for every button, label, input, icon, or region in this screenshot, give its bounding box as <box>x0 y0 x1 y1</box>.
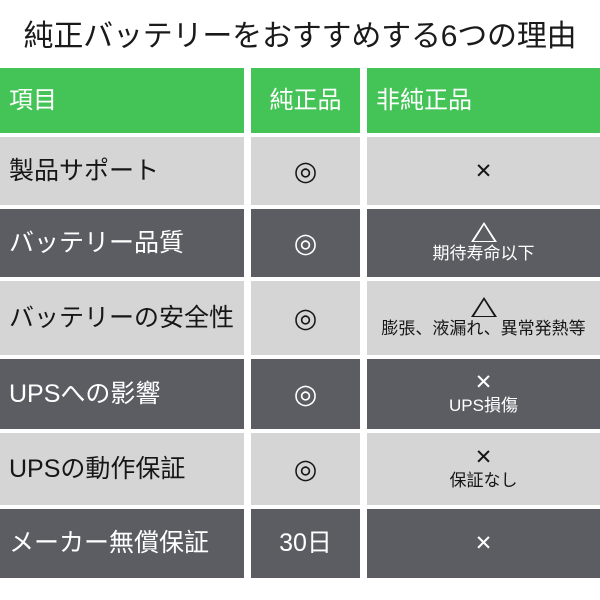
row-genuine-cell: ◎ <box>251 137 360 205</box>
row-item-label: UPSの動作保証 <box>9 456 185 482</box>
row-genuine-cell: ◎ <box>251 209 360 277</box>
row-nongenuine-subtext: UPS損傷 <box>449 396 518 416</box>
row-item-label: メーカー無償保証 <box>9 530 209 556</box>
row-genuine-cell: ◎ <box>251 359 360 429</box>
column-header-item-label: 項目 <box>9 88 57 113</box>
duration-text: 30日 <box>279 531 332 556</box>
row-nongenuine-cell: ✕ UPS損傷 <box>367 359 600 429</box>
triangle-mark <box>471 297 497 317</box>
page-title: 純正バッテリーをおすすめする6つの理由 <box>0 8 600 66</box>
double-circle-mark: ◎ <box>294 230 318 257</box>
column-header-nongenuine: 非純正品 <box>367 68 600 133</box>
row-item-cell: 製品サポート <box>0 137 244 205</box>
row-item-cell: UPSへの影響 <box>0 359 244 429</box>
row-nongenuine-cell: ✕ 保証なし <box>367 433 600 505</box>
double-circle-mark: ◎ <box>294 381 318 408</box>
table-row: メーカー無償保証 30日 ✕ <box>0 509 600 578</box>
comparison-infographic: 純正バッテリーをおすすめする6つの理由 項目 純正品 非純正品 製品サポート ◎… <box>0 0 600 600</box>
row-genuine-cell: ◎ <box>251 281 360 355</box>
table-row: 製品サポート ◎ ✕ <box>0 137 600 205</box>
row-item-cell: バッテリーの安全性 <box>0 281 244 355</box>
row-nongenuine-subtext: 膨張、液漏れ、異常発熱等 <box>381 319 585 339</box>
cross-mark: ✕ <box>475 533 493 554</box>
double-circle-mark: ◎ <box>294 305 318 332</box>
row-item-cell: バッテリー品質 <box>0 209 244 277</box>
column-header-nongenuine-label: 非純正品 <box>376 88 472 113</box>
row-item-label: UPSへの影響 <box>9 381 160 407</box>
column-header-genuine: 純正品 <box>251 68 360 133</box>
cross-mark: ✕ <box>475 161 493 182</box>
row-nongenuine-cell: 膨張、液漏れ、異常発熱等 <box>367 281 600 355</box>
table-row: バッテリー品質 ◎ 期待寿命以下 <box>0 209 600 277</box>
table-header-row: 項目 純正品 非純正品 <box>0 68 600 133</box>
column-header-item: 項目 <box>0 68 244 133</box>
row-item-cell: メーカー無償保証 <box>0 509 244 578</box>
column-header-genuine-label: 純正品 <box>270 88 342 113</box>
row-nongenuine-cell: ✕ <box>367 137 600 205</box>
comparison-table: 項目 純正品 非純正品 製品サポート ◎ ✕ バッテリー品質 <box>0 68 600 578</box>
row-nongenuine-subtext: 期待寿命以下 <box>433 244 535 264</box>
cross-mark: ✕ <box>475 372 493 393</box>
row-item-label: バッテリー品質 <box>9 230 184 256</box>
double-circle-mark: ◎ <box>294 158 318 185</box>
double-circle-mark: ◎ <box>294 456 318 483</box>
row-item-label: 製品サポート <box>9 158 159 184</box>
row-item-label: バッテリーの安全性 <box>9 305 234 331</box>
cross-mark: ✕ <box>475 447 493 468</box>
table-row: UPSの動作保証 ◎ ✕ 保証なし <box>0 433 600 505</box>
row-nongenuine-cell: ✕ <box>367 509 600 578</box>
row-nongenuine-cell: 期待寿命以下 <box>367 209 600 277</box>
triangle-mark <box>471 222 497 242</box>
row-genuine-cell: ◎ <box>251 433 360 505</box>
row-genuine-cell: 30日 <box>251 509 360 578</box>
table-row: バッテリーの安全性 ◎ 膨張、液漏れ、異常発熱等 <box>0 281 600 355</box>
table-row: UPSへの影響 ◎ ✕ UPS損傷 <box>0 359 600 429</box>
row-item-cell: UPSの動作保証 <box>0 433 244 505</box>
row-nongenuine-subtext: 保証なし <box>450 471 518 491</box>
